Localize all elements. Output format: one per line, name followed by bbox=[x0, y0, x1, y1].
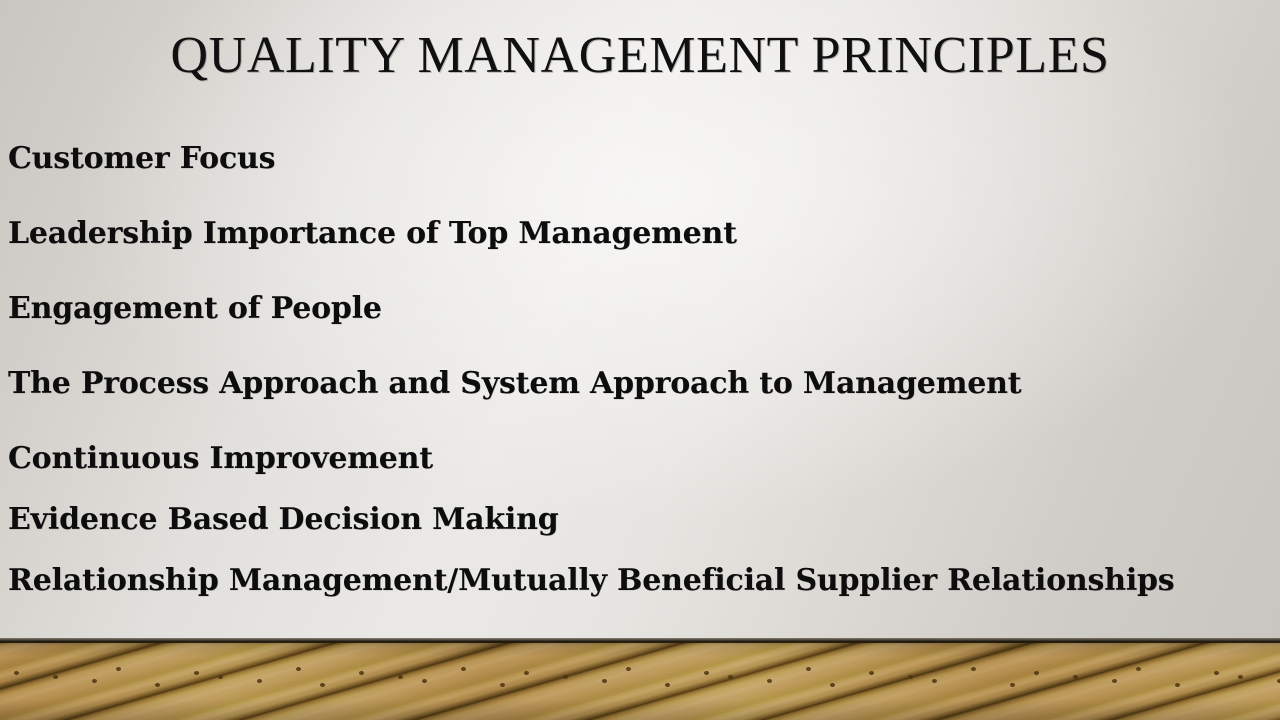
nail-mark-icon bbox=[932, 679, 937, 683]
list-item: Continuous Improvement bbox=[8, 440, 1272, 478]
nail-mark-icon bbox=[1214, 671, 1219, 675]
list-item: Engagement of People bbox=[8, 290, 1272, 328]
page-title: QUALITY MANAGEMENT PRINCIPLES bbox=[0, 24, 1280, 88]
nail-mark-icon bbox=[422, 679, 427, 683]
nail-mark-icon bbox=[1175, 683, 1180, 687]
nail-mark-icon bbox=[1073, 675, 1078, 679]
bullet-list: Customer Focus Leadership Importance of … bbox=[8, 140, 1272, 600]
nail-mark-icon bbox=[116, 667, 121, 671]
nail-mark-icon bbox=[908, 675, 913, 679]
nail-mark-icon bbox=[359, 671, 364, 675]
list-item: Evidence Based Decision Making bbox=[8, 501, 1272, 539]
nail-mark-icon bbox=[728, 675, 733, 679]
nail-mark-icon bbox=[1034, 671, 1039, 675]
nail-mark-icon bbox=[767, 679, 772, 683]
nail-mark-icon bbox=[194, 671, 199, 675]
nail-mark-icon bbox=[830, 683, 835, 687]
nail-mark-icon bbox=[806, 667, 811, 671]
nail-mark-icon bbox=[92, 679, 97, 683]
nail-mark-icon bbox=[257, 679, 262, 683]
nail-mark-icon bbox=[1112, 679, 1117, 683]
nail-mark-icon bbox=[398, 675, 403, 679]
nail-mark-icon bbox=[602, 679, 607, 683]
nail-mark-icon bbox=[1136, 667, 1141, 671]
nail-mark-icon bbox=[14, 671, 19, 675]
wood-floor bbox=[0, 641, 1280, 720]
nail-mark-icon bbox=[563, 675, 568, 679]
list-item: The Process Approach and System Approach… bbox=[8, 365, 1272, 403]
nail-mark-icon bbox=[155, 683, 160, 687]
list-item: Customer Focus bbox=[8, 140, 1272, 178]
presentation-slide: QUALITY MANAGEMENT PRINCIPLES Customer F… bbox=[0, 0, 1280, 720]
nail-mark-icon bbox=[296, 667, 301, 671]
list-item: Relationship Management/Mutually Benefic… bbox=[8, 562, 1272, 600]
floor-nail-marks bbox=[0, 641, 1280, 720]
nail-mark-icon bbox=[524, 671, 529, 675]
nail-mark-icon bbox=[461, 667, 466, 671]
list-item: Leadership Importance of Top Management bbox=[8, 215, 1272, 253]
nail-mark-icon bbox=[218, 675, 223, 679]
nail-mark-icon bbox=[53, 675, 58, 679]
nail-mark-icon bbox=[971, 667, 976, 671]
nail-mark-icon bbox=[665, 683, 670, 687]
nail-mark-icon bbox=[500, 683, 505, 687]
nail-mark-icon bbox=[626, 667, 631, 671]
nail-mark-icon bbox=[869, 671, 874, 675]
nail-mark-icon bbox=[1010, 683, 1015, 687]
nail-mark-icon bbox=[1238, 675, 1243, 679]
nail-mark-icon bbox=[704, 671, 709, 675]
nail-mark-icon bbox=[320, 683, 325, 687]
